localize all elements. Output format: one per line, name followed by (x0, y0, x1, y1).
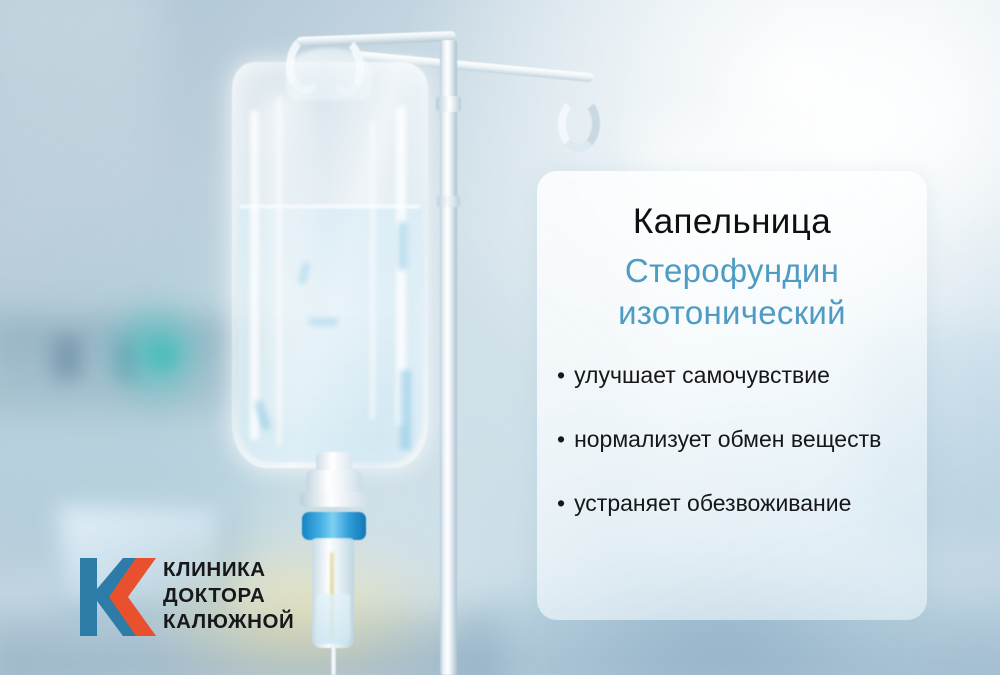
clinic-logo: КЛИНИКА ДОКТОРА КАЛЮЖНОЙ (78, 552, 318, 644)
iv-stand-collar-lower (437, 196, 460, 207)
iv-bag-tint (400, 370, 411, 450)
benefit-text: устраняет обезвоживание (574, 490, 851, 516)
background-cabinet-slot (52, 336, 82, 380)
logo-text-line-1: КЛИНИКА (163, 557, 363, 583)
benefit-item: •нормализует обмен веществ (547, 425, 919, 455)
logo-text-line-2: ДОКТОРА (163, 583, 363, 609)
background-teal-accent-core (140, 332, 186, 378)
advertisement-banner: Капельница Стерофундин изотонический •ул… (0, 0, 1000, 675)
benefit-text: улучшает самочувствие (574, 362, 830, 388)
drip-chamber-collar (302, 512, 366, 540)
bullet-dot-icon: • (557, 489, 565, 519)
info-card-content: Капельница Стерофундин изотонический •ул… (537, 171, 927, 620)
iv-stand-pole (440, 40, 457, 675)
logo-text-line-3: КАЛЮЖНОЙ (163, 609, 363, 635)
benefit-item: •устраняет обезвоживание (547, 489, 919, 519)
card-title-primary: Капельница (537, 202, 927, 242)
bullet-dot-icon: • (557, 361, 565, 391)
bullet-dot-icon: • (557, 425, 565, 455)
card-title-secondary: Стерофундин изотонический (537, 250, 927, 334)
drip-cap-rim (300, 492, 368, 507)
background-window (0, 0, 160, 300)
iv-tube (331, 646, 336, 675)
iv-bag-highlight (262, 92, 318, 422)
logo-text: КЛИНИКА ДОКТОРА КАЛЮЖНОЙ (163, 557, 363, 634)
iv-bag-tint (398, 222, 407, 270)
logo-mark-icon (78, 556, 158, 638)
iv-stand-collar-upper (436, 96, 461, 112)
iv-bag-fold (250, 110, 259, 440)
info-card: Капельница Стерофундин изотонический •ул… (537, 171, 927, 620)
benefit-item: •улучшает самочувствие (547, 361, 919, 391)
benefits-list: •улучшает самочувствие •нормализует обме… (547, 361, 919, 553)
iv-bag-fold (370, 120, 375, 420)
benefit-text: нормализует обмен веществ (574, 426, 881, 452)
